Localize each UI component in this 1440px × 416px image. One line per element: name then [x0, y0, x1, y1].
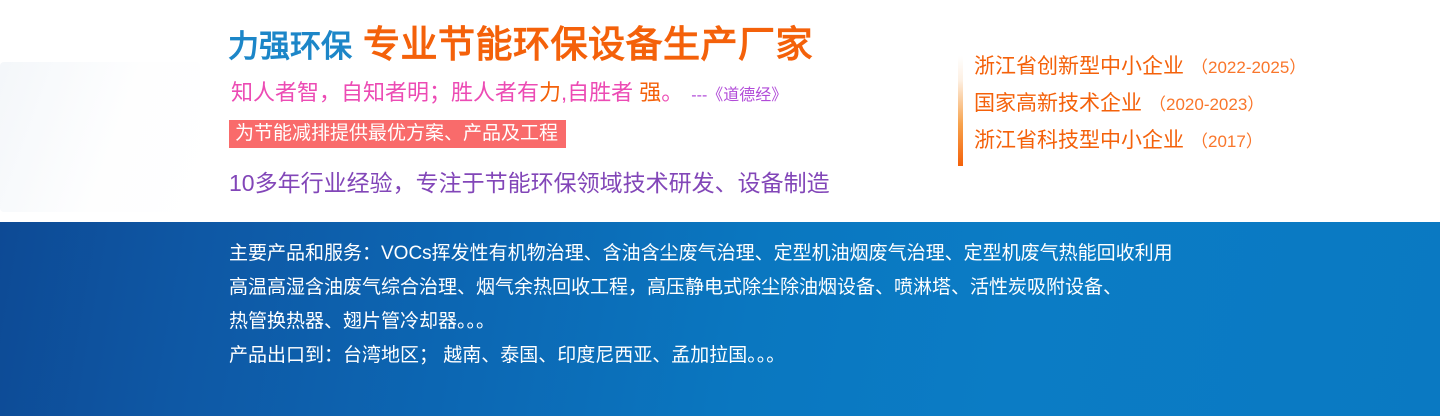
quote-part-3: 。 [661, 80, 683, 105]
certification-years: （2020-2023） [1149, 95, 1264, 114]
quote-text: 知人者智，自知者明；胜人者有力,自胜者 强。---《道德经》 [231, 82, 787, 104]
background-watermark-image [0, 62, 200, 212]
list-item: 浙江省创新型中小企业（2022-2025） [974, 56, 1306, 77]
products-line: 主要产品和服务：VOCs挥发性有机物治理、含油含尘废气治理、定型机油烟废气治理、… [229, 244, 1173, 263]
certification-name: 国家高新技术企业 [974, 92, 1142, 115]
quote-accent-1: 力 [539, 80, 561, 105]
list-item: 国家高新技术企业（2020-2023） [974, 93, 1306, 114]
company-banner: 力强环保专业节能环保设备生产厂家 知人者智，自知者明；胜人者有力,自胜者 强。-… [0, 0, 1440, 416]
certification-name: 浙江省创新型中小企业 [974, 55, 1184, 78]
accent-bar-divider [958, 56, 963, 166]
products-blue-section: 主要产品和服务：VOCs挥发性有机物治理、含油含尘废气治理、定型机油烟废气治理、… [0, 222, 1440, 416]
quote-accent-2: 强 [639, 80, 661, 105]
quote-source: ---《道德经》 [691, 87, 787, 104]
products-line: 热管换热器、翅片管冷却器。。。 [229, 312, 1173, 331]
export-line: 产品出口到：台湾地区； 越南、泰国、印度尼西亚、孟加拉国。。。 [229, 346, 1173, 365]
experience-statement: 10多年行业经验，专注于节能环保领域技术研发、设备制造 [229, 172, 830, 195]
status-badge: 为节能减排提供最优方案、产品及工程 [229, 120, 566, 148]
headline-slogan: 专业节能环保设备生产厂家 [363, 24, 813, 65]
list-item: 浙江省科技型中小企业（2017） [974, 130, 1306, 151]
brand-name: 力强环保 [228, 29, 352, 64]
products-line: 高温高湿含油废气综合治理、烟气余热回收工程，高压静电式除尘除油烟设备、喷淋塔、活… [229, 278, 1173, 297]
page-title: 力强环保专业节能环保设备生产厂家 [228, 26, 813, 63]
header-white-section: 力强环保专业节能环保设备生产厂家 知人者智，自知者明；胜人者有力,自胜者 强。-… [0, 0, 1440, 222]
certification-name: 浙江省科技型中小企业 [974, 129, 1184, 152]
products-text-block: 主要产品和服务：VOCs挥发性有机物治理、含油含尘废气治理、定型机油烟废气治理、… [229, 244, 1173, 365]
certification-years: （2017） [1191, 132, 1263, 151]
quote-part-2: ,自胜者 [561, 80, 639, 105]
certifications-list: 浙江省创新型中小企业（2022-2025） 国家高新技术企业（2020-2023… [958, 56, 1306, 151]
certification-years: （2022-2025） [1191, 58, 1306, 77]
quote-part-1: 知人者智，自知者明；胜人者有 [231, 80, 539, 105]
